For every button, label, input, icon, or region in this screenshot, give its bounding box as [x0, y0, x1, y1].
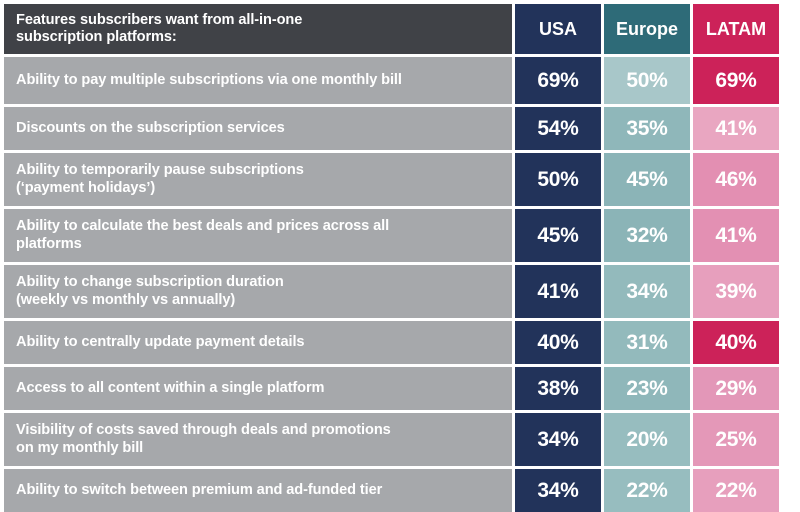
cell-latam: 69% — [693, 57, 779, 104]
cell-europe: 35% — [604, 107, 690, 150]
table-row: Ability to calculate the best deals and … — [4, 209, 792, 262]
column-header-usa: USA — [515, 4, 601, 54]
table-row: Ability to pay multiple subscriptions vi… — [4, 57, 792, 104]
cell-latam: 41% — [693, 209, 779, 262]
row-label-line: on my monthly bill — [16, 440, 391, 457]
cell-latam: 22% — [693, 469, 779, 512]
survey-results-table: Features subscribers want from all-in-on… — [0, 0, 800, 485]
row-label: Discounts on the subscription services — [4, 107, 512, 150]
row-label: Ability to calculate the best deals and … — [4, 209, 512, 262]
row-label-line: (‘payment holidays’) — [16, 180, 304, 197]
cell-latam: 46% — [693, 153, 779, 206]
row-label-line: platforms — [16, 236, 389, 253]
row-label: Ability to switch between premium and ad… — [4, 469, 512, 512]
cell-latam: 39% — [693, 265, 779, 318]
row-label: Access to all content within a single pl… — [4, 367, 512, 410]
column-header-latam: LATAM — [693, 4, 779, 54]
row-label-line: Ability to calculate the best deals and … — [16, 218, 389, 235]
page-title-line-1: Features subscribers want from all-in-on… — [16, 12, 302, 29]
table-title-cell: Features subscribers want from all-in-on… — [4, 4, 512, 54]
cell-latam: 25% — [693, 413, 779, 466]
row-label-line: Ability to change subscription duration — [16, 274, 284, 291]
table-row: Ability to change subscription duration … — [4, 265, 792, 318]
row-label: Ability to temporarily pause subscriptio… — [4, 153, 512, 206]
cell-latam: 40% — [693, 321, 779, 364]
cell-latam: 41% — [693, 107, 779, 150]
cell-europe: 45% — [604, 153, 690, 206]
row-label: Ability to pay multiple subscriptions vi… — [4, 57, 512, 104]
table-row: Discounts on the subscription services 5… — [4, 107, 792, 150]
table-row: Ability to temporarily pause subscriptio… — [4, 153, 792, 206]
cell-usa: 34% — [515, 469, 601, 512]
cell-europe: 32% — [604, 209, 690, 262]
row-label-line: Ability to switch between premium and ad… — [16, 482, 382, 499]
table-row: Ability to switch between premium and ad… — [4, 469, 792, 512]
cell-europe: 50% — [604, 57, 690, 104]
row-label-line: Ability to centrally update payment deta… — [16, 334, 304, 351]
cell-europe: 23% — [604, 367, 690, 410]
table-row: Ability to centrally update payment deta… — [4, 321, 792, 364]
cell-usa: 40% — [515, 321, 601, 364]
row-label-line: Ability to temporarily pause subscriptio… — [16, 162, 304, 179]
cell-usa: 50% — [515, 153, 601, 206]
table-row: Access to all content within a single pl… — [4, 367, 792, 410]
row-label-line: Visibility of costs saved through deals … — [16, 422, 391, 439]
row-label: Ability to centrally update payment deta… — [4, 321, 512, 364]
cell-usa: 54% — [515, 107, 601, 150]
cell-usa: 34% — [515, 413, 601, 466]
cell-europe: 34% — [604, 265, 690, 318]
column-header-europe: Europe — [604, 4, 690, 54]
table-row: Visibility of costs saved through deals … — [4, 413, 792, 466]
cell-usa: 45% — [515, 209, 601, 262]
row-label: Visibility of costs saved through deals … — [4, 413, 512, 466]
table-header-row: Features subscribers want from all-in-on… — [4, 4, 792, 54]
row-label-line: (weekly vs monthly vs annually) — [16, 292, 284, 309]
cell-latam: 29% — [693, 367, 779, 410]
row-label-line: Ability to pay multiple subscriptions vi… — [16, 72, 402, 89]
cell-usa: 38% — [515, 367, 601, 410]
page-title-line-2: subscription platforms: — [16, 29, 302, 46]
cell-europe: 20% — [604, 413, 690, 466]
row-label-line: Access to all content within a single pl… — [16, 380, 324, 397]
cell-europe: 22% — [604, 469, 690, 512]
cell-usa: 69% — [515, 57, 601, 104]
cell-usa: 41% — [515, 265, 601, 318]
row-label: Ability to change subscription duration … — [4, 265, 512, 318]
cell-europe: 31% — [604, 321, 690, 364]
row-label-line: Discounts on the subscription services — [16, 120, 285, 137]
